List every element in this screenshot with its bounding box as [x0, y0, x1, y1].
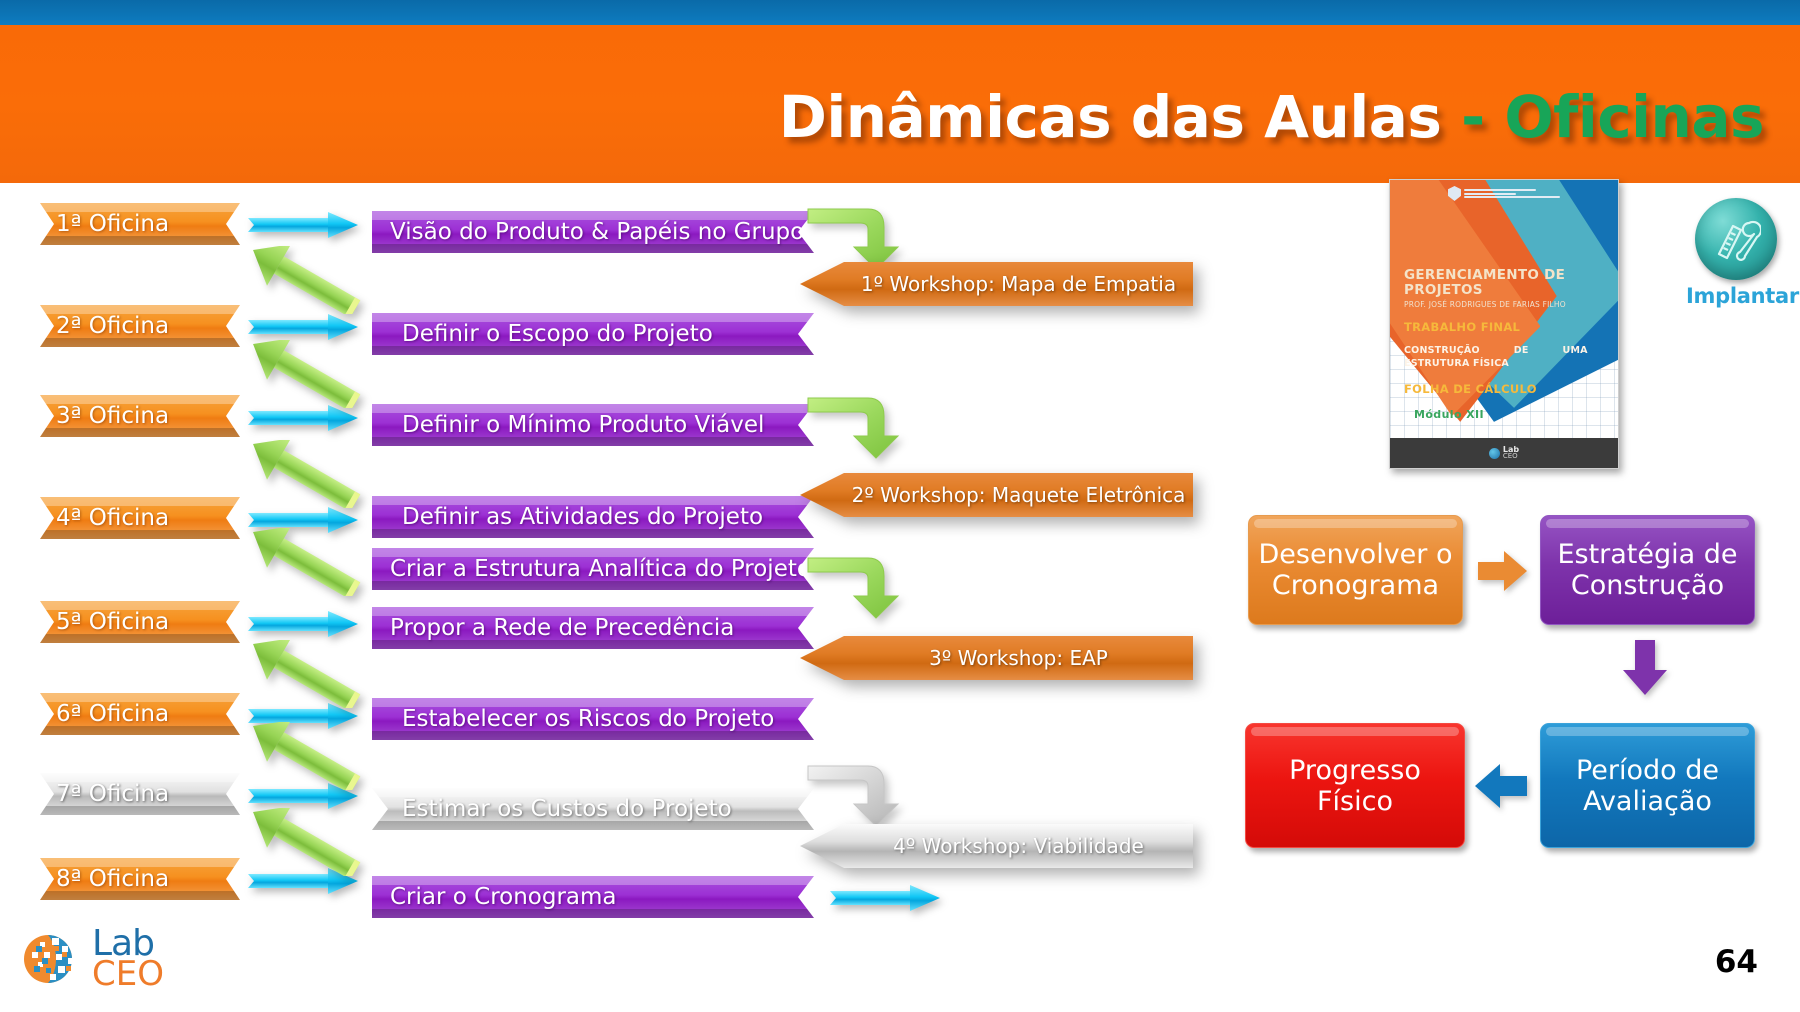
cover-title: GERENCIAMENTO DE PROJETOS	[1404, 268, 1608, 298]
oficina-label: 5ª Oficina	[56, 609, 169, 635]
task-label: Visão do Produto & Papéis no Grupo	[390, 219, 804, 245]
university-header	[1448, 186, 1560, 201]
title-main: Dinâmicas das Aulas	[779, 83, 1442, 151]
university-line-1	[1464, 189, 1536, 191]
task-bar-4[interactable]: Definir as Atividades do Projeto	[372, 496, 814, 538]
elbow-connector-green-2	[806, 392, 916, 460]
oficina-label: 7ª Oficina	[56, 781, 169, 807]
oficina-bar-5[interactable]: 5ª Oficina	[40, 601, 240, 643]
oficina-label: 4ª Oficina	[56, 505, 169, 531]
cover-sheet: FOLHA DE CÁLCULO	[1404, 382, 1608, 396]
brand-name-bottom: CEO	[92, 959, 164, 989]
oficina-bar-6[interactable]: 6ª Oficina	[40, 693, 240, 735]
cover-subject-c: UMA	[1563, 345, 1588, 356]
green-diagonal-arrow-1	[245, 246, 365, 314]
cover-text-block: GERENCIAMENTO DE PROJETOS PROF. JOSÉ ROD…	[1404, 268, 1608, 421]
cover-brand: Lab CEO	[1503, 446, 1519, 460]
arrow-head	[328, 611, 358, 637]
task-label: Definir as Atividades do Projeto	[402, 504, 763, 530]
oficina-bar-2[interactable]: 2ª Oficina	[40, 305, 240, 347]
box-highlight	[1251, 727, 1459, 736]
cover-subject-a: CONSTRUÇÃO	[1404, 345, 1480, 356]
oficina-label: 3ª Oficina	[56, 403, 169, 429]
workshop-label: 2º Workshop: Maquete Eletrônica	[800, 483, 1193, 507]
oficina-label: 8ª Oficina	[56, 866, 169, 892]
flow-arrow-down-purple	[1622, 640, 1668, 696]
green-diagonal-arrow-7	[245, 808, 365, 876]
cover-subject-d: ESTRUTURA FÍSICA	[1404, 358, 1509, 369]
arrow-shaft	[248, 874, 336, 888]
flow-arrow-right-orange	[1478, 550, 1528, 592]
oficina-label: 6ª Oficina	[56, 701, 169, 727]
labceo-logo: Lab CEO	[22, 928, 164, 990]
arrow-shaft	[248, 218, 336, 232]
cyan-arrow-3	[248, 405, 358, 431]
top-accent-bar	[0, 0, 1800, 25]
flow-box-periodo-avaliacao[interactable]: Período de Avaliação	[1540, 723, 1755, 848]
arrow-shaft	[248, 789, 336, 803]
arrow-shaft	[248, 709, 336, 723]
arrow-shaft	[248, 513, 336, 527]
cover-module: Módulo XII	[1404, 408, 1608, 421]
task-bar-3[interactable]: Definir o Mínimo Produto Viável	[372, 404, 814, 446]
implantar-badge[interactable]: Implantar	[1686, 198, 1786, 308]
university-line-2	[1464, 193, 1516, 195]
flow-box-estrategia-construcao[interactable]: Estratégia de Construção	[1540, 515, 1755, 625]
oficina-label: 1ª Oficina	[56, 211, 169, 237]
oficina-bar-8[interactable]: 8ª Oficina	[40, 858, 240, 900]
slide-canvas: Dinâmicas das Aulas - Oficinas 1ª Oficin…	[0, 0, 1800, 1012]
box-highlight	[1546, 519, 1749, 528]
implantar-circle	[1695, 198, 1777, 280]
task-bar-5[interactable]: Criar a Estrutura Analítica do Projeto	[372, 548, 814, 590]
task-bar-6[interactable]: Propor a Rede de Precedência	[372, 607, 814, 649]
arrow-shaft	[830, 891, 918, 905]
workshop-label: 1º Workshop: Mapa de Empatia	[800, 272, 1193, 296]
workshop-arrow-1[interactable]: 1º Workshop: Mapa de Empatia	[800, 262, 1193, 306]
flow-box-label: Progresso Físico	[1254, 755, 1456, 817]
arrow-shaft	[248, 320, 336, 334]
oficina-bar-3[interactable]: 3ª Oficina	[40, 395, 240, 437]
university-crest-icon	[1448, 186, 1461, 201]
workshop-arrow-4[interactable]: 4º Workshop: Viabilidade	[800, 824, 1193, 868]
cyan-arrow-5	[248, 611, 358, 637]
oficina-bar-1[interactable]: 1ª Oficina	[40, 203, 240, 245]
box-highlight	[1254, 519, 1457, 528]
task-bar-2[interactable]: Definir o Escopo do Projeto	[372, 313, 814, 355]
task-bar-7[interactable]: Estabelecer os Riscos do Projeto	[372, 698, 814, 740]
arrow-head	[328, 212, 358, 238]
university-line-3	[1464, 196, 1560, 198]
cyan-arrow-1	[248, 212, 358, 238]
book-cover-thumbnail[interactable]: GERENCIAMENTO DE PROJETOS PROF. JOSÉ ROD…	[1389, 179, 1619, 469]
flow-box-desenvolver-cronograma[interactable]: Desenvolver o Cronograma	[1248, 515, 1463, 625]
oficina-label: 2ª Oficina	[56, 313, 169, 339]
box-highlight	[1546, 727, 1749, 736]
implantar-label: Implantar	[1686, 284, 1786, 308]
green-diagonal-arrow-6	[245, 722, 365, 790]
arrow-shaft	[248, 411, 336, 425]
workshop-label: 3º Workshop: EAP	[800, 646, 1193, 670]
green-diagonal-arrow-5	[245, 640, 365, 708]
workshop-label: 4º Workshop: Viabilidade	[800, 834, 1193, 858]
flow-box-label: Desenvolver o Cronograma	[1257, 539, 1454, 601]
task-label: Criar a Estrutura Analítica do Projeto	[390, 556, 811, 582]
flow-box-label: Período de Avaliação	[1549, 755, 1746, 817]
green-diagonal-arrow-2	[245, 340, 365, 408]
arrow-head	[328, 405, 358, 431]
task-label: Criar o Cronograma	[390, 884, 617, 910]
flow-box-label: Estratégia de Construção	[1549, 539, 1746, 601]
task-label: Estimar os Custos do Projeto	[402, 796, 732, 822]
labceo-globe-icon	[1489, 448, 1500, 459]
task-bar-8[interactable]: Estimar os Custos do Projeto	[372, 788, 814, 830]
task-label: Definir o Mínimo Produto Viável	[402, 412, 764, 438]
elbow-connector-green-1	[806, 203, 916, 271]
cover-footer: Lab CEO	[1390, 438, 1618, 468]
university-text-lines	[1464, 189, 1560, 198]
green-diagonal-arrow-3	[245, 440, 365, 508]
flow-arrow-left-blue	[1474, 762, 1528, 810]
arrow-shaft	[248, 617, 336, 631]
workshop-arrow-2[interactable]: 2º Workshop: Maquete Eletrônica	[800, 473, 1193, 517]
oficina-bar-4[interactable]: 4ª Oficina	[40, 497, 240, 539]
labceo-wordmark: Lab CEO	[92, 929, 164, 989]
task-bar-1[interactable]: Visão do Produto & Papéis no Grupo	[372, 211, 814, 253]
flow-box-progresso-fisico[interactable]: Progresso Físico	[1245, 723, 1465, 848]
cyan-arrow-outflow	[830, 885, 940, 911]
cyan-arrow-2	[248, 314, 358, 340]
title-accent: - Oficinas	[1461, 83, 1764, 151]
arrow-head	[910, 885, 940, 911]
arrow-head	[328, 314, 358, 340]
cover-brand-bottom: CEO	[1503, 453, 1519, 460]
ruler-wrench-icon	[1711, 214, 1761, 264]
green-diagonal-arrow-4	[245, 528, 365, 596]
cover-professor: PROF. JOSÉ RODRIGUES DE FARIAS FILHO	[1404, 300, 1608, 309]
oficina-bar-7[interactable]: 7ª Oficina	[40, 773, 240, 815]
header-band: Dinâmicas das Aulas - Oficinas	[0, 25, 1800, 183]
cover-work-type: TRABALHO FINAL	[1404, 320, 1608, 334]
cover-subject: CONSTRUÇÃODEUMA ESTRUTURA FÍSICA	[1404, 344, 1608, 370]
labceo-globe-icon	[22, 928, 84, 990]
cover-subject-b: DE	[1514, 345, 1529, 356]
task-label: Propor a Rede de Precedência	[390, 615, 734, 641]
task-label: Estabelecer os Riscos do Projeto	[402, 706, 774, 732]
elbow-connector-grey-4	[806, 760, 916, 828]
page-title: Dinâmicas das Aulas - Oficinas	[779, 83, 1764, 151]
elbow-connector-green-3	[806, 552, 916, 620]
task-label: Definir o Escopo do Projeto	[402, 321, 713, 347]
workshop-arrow-3[interactable]: 3º Workshop: EAP	[800, 636, 1193, 680]
task-bar-9[interactable]: Criar o Cronograma	[372, 876, 814, 918]
page-number: 64	[1715, 944, 1758, 980]
